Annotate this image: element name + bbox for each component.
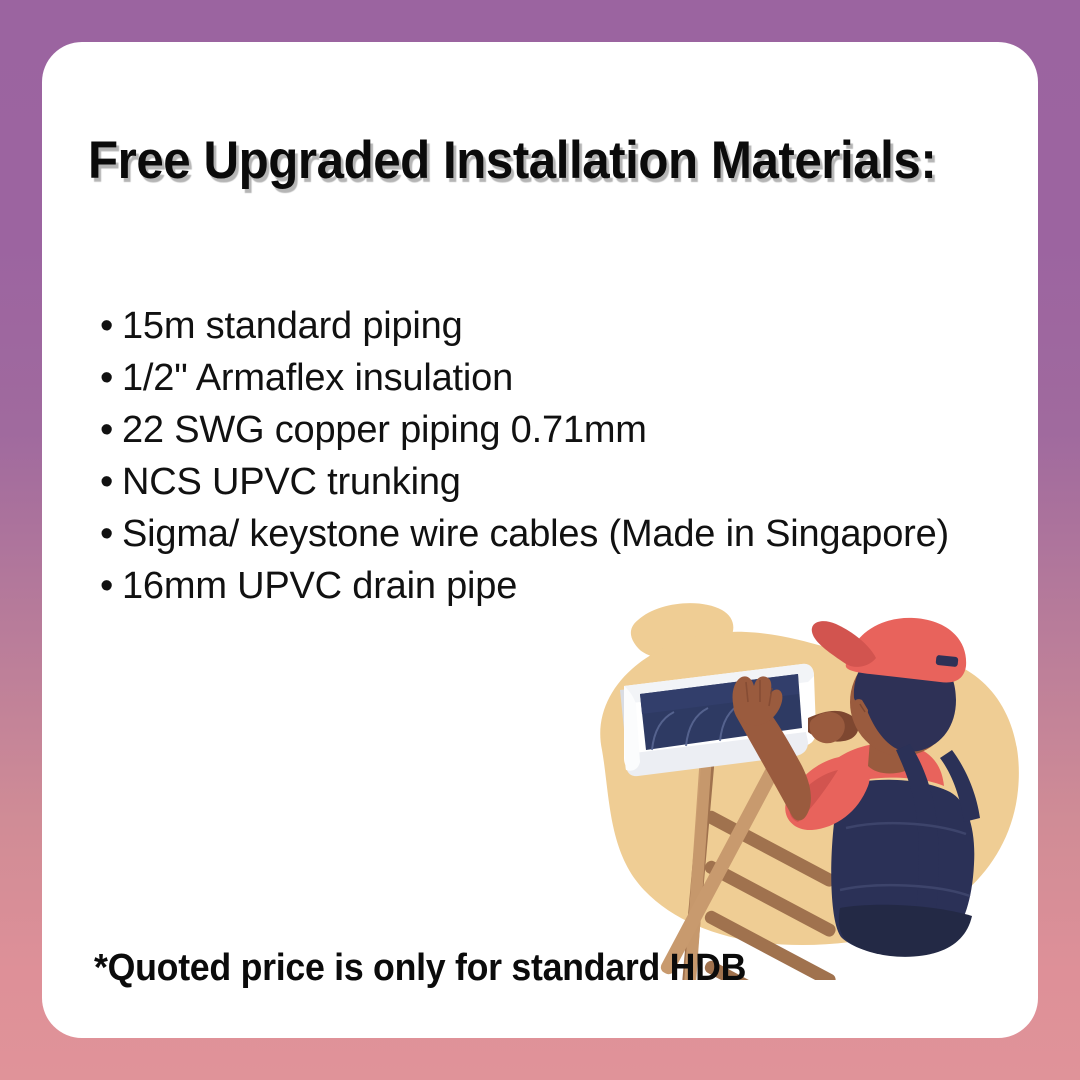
bullet-icon: • bbox=[100, 352, 113, 404]
list-item: • 1/2" Armaflex insulation bbox=[100, 352, 1020, 404]
list-item-label: 15m standard piping bbox=[122, 305, 463, 347]
list-item: • Sigma/ keystone wire cables (Made in S… bbox=[100, 508, 1020, 560]
aircon-installer-illustration bbox=[540, 590, 1038, 980]
list-item-label: 22 SWG copper piping 0.71mm bbox=[122, 409, 647, 451]
content-card: Free Upgraded Installation Materials: • … bbox=[42, 42, 1038, 1038]
bullet-icon: • bbox=[100, 300, 113, 352]
list-item-label: NCS UPVC trunking bbox=[122, 461, 461, 503]
bullet-icon: • bbox=[100, 560, 113, 612]
bullet-icon: • bbox=[100, 456, 113, 508]
list-item-label: 16mm UPVC drain pipe bbox=[122, 565, 517, 607]
bullet-icon: • bbox=[100, 508, 113, 560]
list-item-label: Sigma/ keystone wire cables (Made in Sin… bbox=[122, 513, 949, 555]
page-title: Free Upgraded Installation Materials: bbox=[88, 130, 934, 191]
footnote-text: *Quoted price is only for standard HDB bbox=[94, 947, 746, 990]
poster-canvas: Free Upgraded Installation Materials: • … bbox=[0, 0, 1080, 1080]
list-item-label: 1/2" Armaflex insulation bbox=[122, 357, 513, 399]
list-item: • NCS UPVC trunking bbox=[100, 456, 1020, 508]
list-item: • 15m standard piping bbox=[100, 300, 1020, 352]
list-item: • 22 SWG copper piping 0.71mm bbox=[100, 404, 1020, 456]
bullet-icon: • bbox=[100, 404, 113, 456]
materials-list: • 15m standard piping • 1/2" Armaflex in… bbox=[100, 300, 1020, 612]
